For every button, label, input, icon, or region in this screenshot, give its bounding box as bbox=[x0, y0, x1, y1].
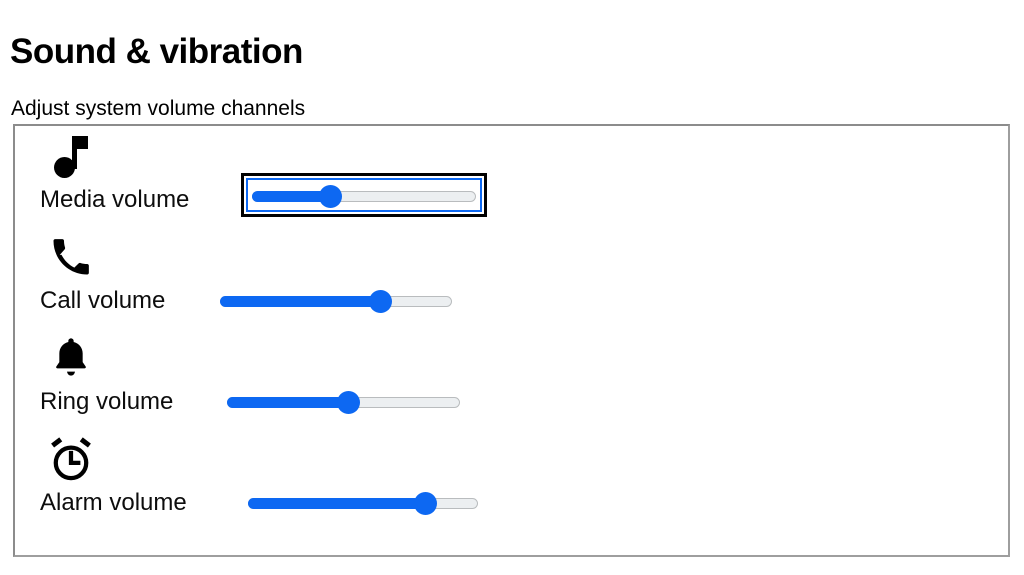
bell-icon bbox=[45, 334, 97, 382]
phone-icon bbox=[45, 233, 97, 281]
volume-row-call: Call volume bbox=[15, 229, 1008, 330]
call-volume-fill bbox=[220, 296, 380, 307]
page-title: Sound & vibration bbox=[10, 29, 303, 75]
volume-row-alarm: Alarm volume bbox=[15, 431, 1008, 532]
volume-row-media: Media volume bbox=[15, 128, 1008, 229]
call-volume-slider-wrap bbox=[220, 287, 452, 315]
call-volume-slider[interactable] bbox=[220, 287, 452, 315]
media-volume-thumb[interactable] bbox=[319, 185, 342, 208]
volume-row-ring: Ring volume bbox=[15, 330, 1008, 431]
alarm-volume-slider[interactable] bbox=[248, 489, 478, 517]
volume-row-label-media: Media volume bbox=[40, 183, 189, 217]
alarm-volume-fill bbox=[248, 498, 425, 509]
ring-volume-thumb[interactable] bbox=[337, 391, 360, 414]
alarm-volume-thumb[interactable] bbox=[414, 492, 437, 515]
media-volume-slider-wrap bbox=[249, 128, 483, 156]
volume-channels-panel: Media volume Call volume bbox=[13, 124, 1010, 557]
alarm-volume-slider-wrap bbox=[248, 489, 478, 517]
volume-row-label-ring: Ring volume bbox=[40, 385, 173, 419]
volume-row-label-alarm: Alarm volume bbox=[40, 486, 187, 520]
media-volume-focus-ring bbox=[241, 173, 487, 217]
media-volume-slider[interactable] bbox=[252, 182, 476, 210]
ring-volume-slider[interactable] bbox=[227, 388, 460, 416]
ring-volume-slider-wrap bbox=[227, 388, 460, 416]
call-volume-thumb[interactable] bbox=[369, 290, 392, 313]
ring-volume-fill bbox=[227, 397, 348, 408]
page-subtitle: Adjust system volume channels bbox=[11, 95, 305, 123]
volume-row-label-call: Call volume bbox=[40, 284, 165, 318]
music-note-icon bbox=[45, 132, 97, 180]
alarm-clock-icon bbox=[45, 435, 97, 483]
media-volume-focus-ring-inner bbox=[246, 178, 482, 212]
